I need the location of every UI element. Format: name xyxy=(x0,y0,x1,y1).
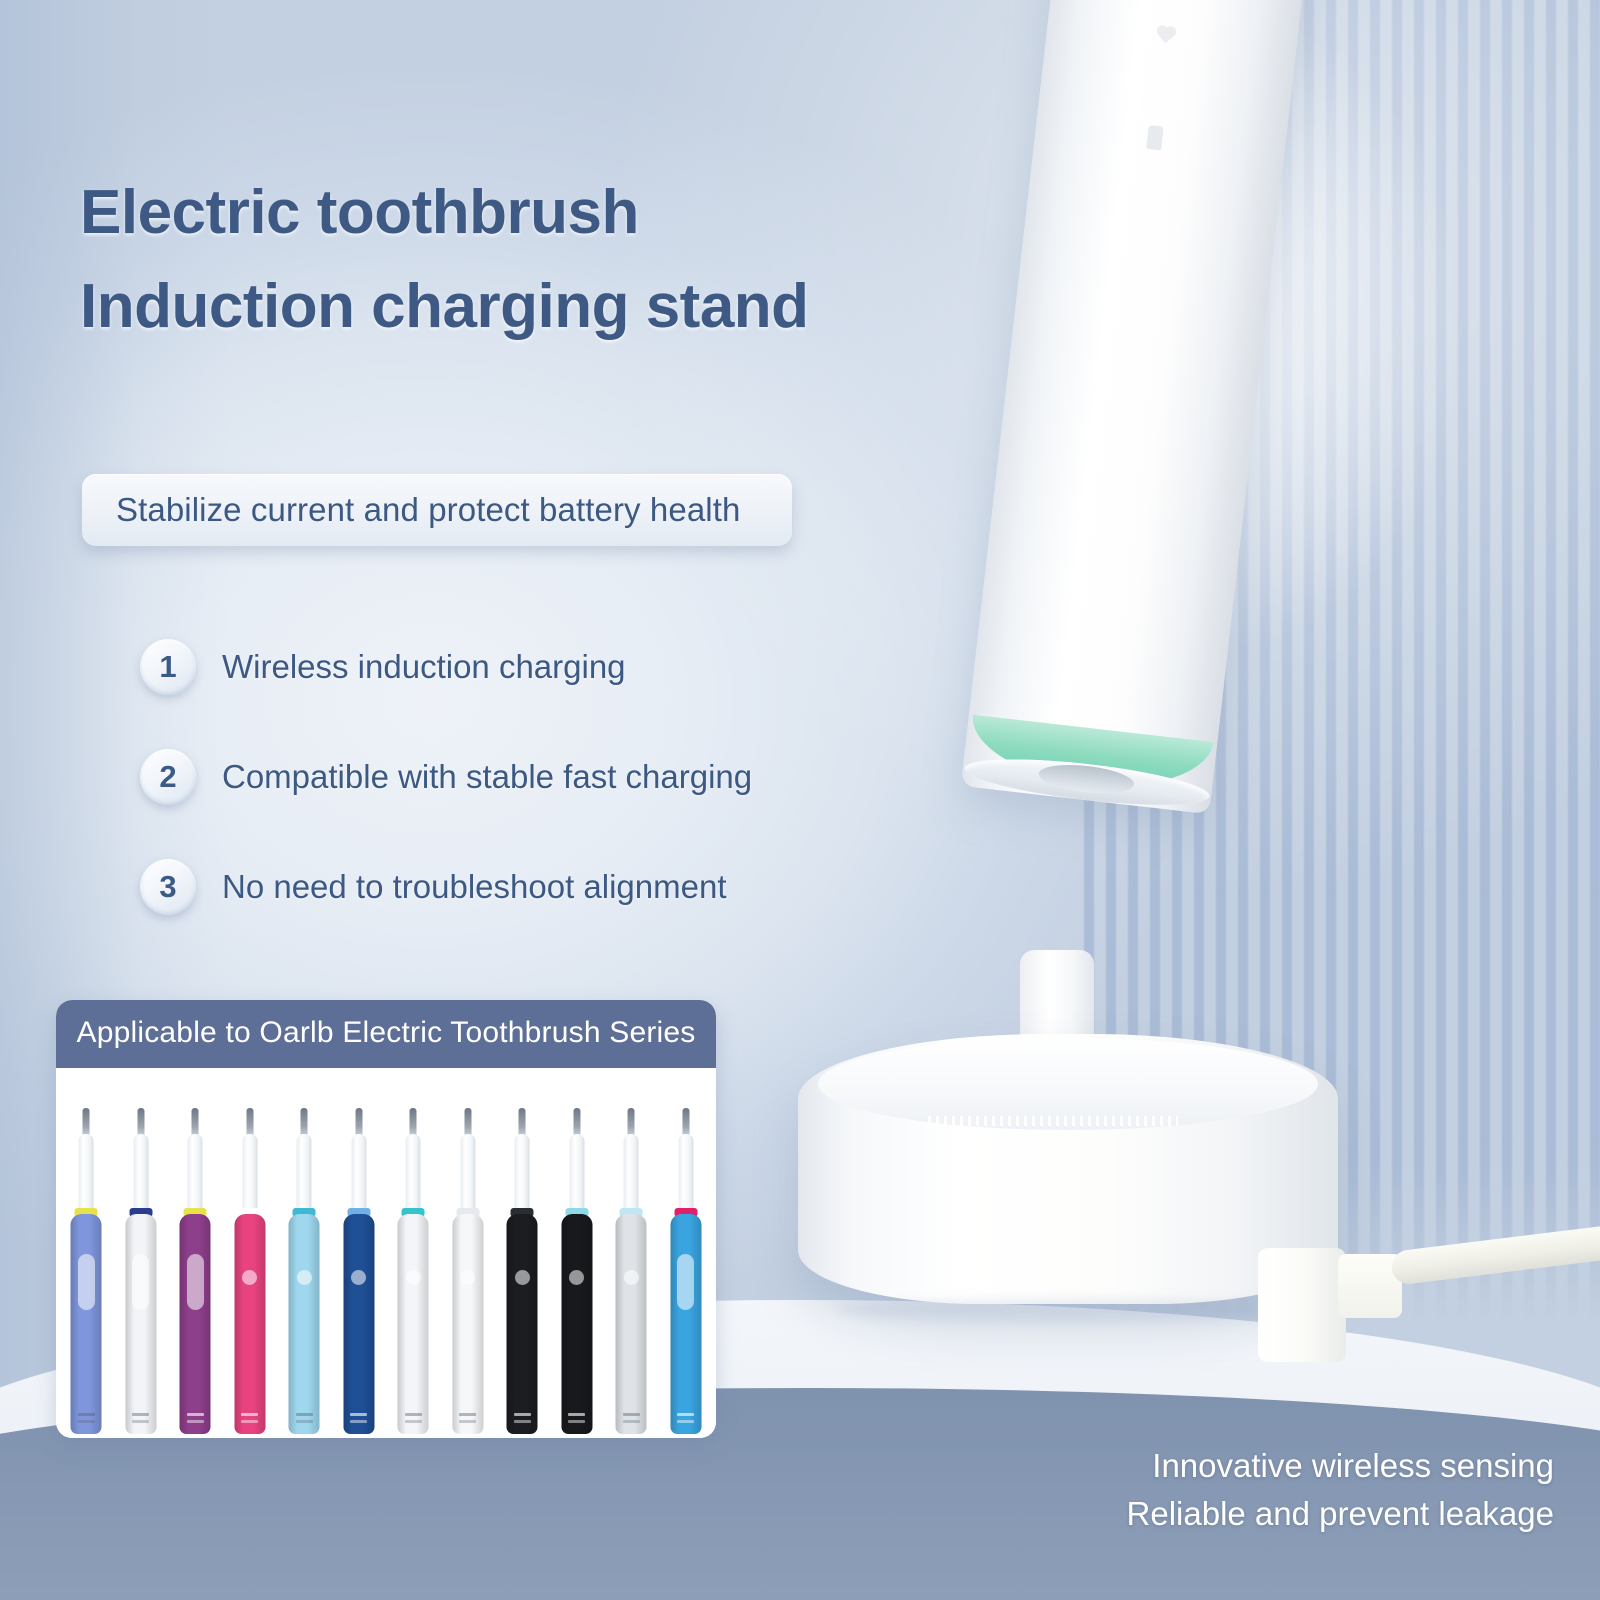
brush-power-button xyxy=(242,1270,257,1285)
brush-brand-logo xyxy=(78,1413,95,1416)
brush-body xyxy=(180,1214,211,1434)
subtitle-pill: Stabilize current and protect battery he… xyxy=(82,474,792,546)
brush-neck xyxy=(406,1134,421,1212)
brush-power-button xyxy=(297,1270,312,1285)
brush-power-button xyxy=(351,1270,366,1285)
brush-brand-logo xyxy=(187,1413,204,1416)
brush-neck xyxy=(515,1134,530,1212)
brush-power-button xyxy=(515,1270,530,1285)
kids-pink-blue-brush xyxy=(666,1108,706,1434)
brush-brand-logo xyxy=(350,1413,367,1416)
brush-neck xyxy=(678,1134,693,1212)
feature-item: 3 No need to troubleshoot alignment xyxy=(140,832,960,942)
brush-body xyxy=(616,1214,647,1434)
brush-body xyxy=(125,1214,156,1434)
page-title: Electric toothbrush Induction charging s… xyxy=(80,166,1040,354)
brush-power-button xyxy=(187,1254,204,1310)
brush-power-button xyxy=(460,1270,475,1285)
brush-power-button xyxy=(406,1270,421,1285)
brush-neck xyxy=(624,1134,639,1212)
compatibility-banner: Applicable to Oarlb Electric Toothbrush … xyxy=(56,1000,716,1068)
feature-label: Wireless induction charging xyxy=(222,648,626,686)
brush-brand-logo xyxy=(568,1413,585,1416)
brush-neck xyxy=(188,1134,203,1212)
brush-brand-logo xyxy=(132,1413,149,1416)
brush-power-button xyxy=(132,1254,149,1310)
feature-number-badge: 2 xyxy=(140,749,196,805)
compatibility-card: Applicable to Oarlb Electric Toothbrush … xyxy=(56,1000,716,1438)
bottom-tagline-line-1: Innovative wireless sensing xyxy=(1127,1442,1554,1490)
subtitle-pill-text: Stabilize current and protect battery he… xyxy=(82,491,740,529)
brush-neck xyxy=(297,1134,312,1212)
brush-body xyxy=(289,1214,320,1434)
brush-power-button xyxy=(569,1270,584,1285)
white-navy-brush xyxy=(121,1108,161,1434)
brush-brand-logo xyxy=(677,1413,694,1416)
page-title-line-2: Induction charging stand xyxy=(80,260,1040,354)
brush-neck xyxy=(242,1134,257,1212)
bottom-tagline-line-2: Reliable and prevent leakage xyxy=(1127,1490,1554,1538)
page-title-line-1: Electric toothbrush xyxy=(80,178,639,247)
blue-vitality-brush xyxy=(66,1108,106,1434)
purple-brush xyxy=(175,1108,215,1434)
brush-power-button xyxy=(78,1254,95,1310)
brush-neck xyxy=(133,1134,148,1212)
brush-brand-logo xyxy=(296,1413,313,1416)
brush-brand-logo xyxy=(623,1413,640,1416)
brush-body xyxy=(561,1214,592,1434)
feature-list: 1 Wireless induction charging 2 Compatib… xyxy=(140,612,960,942)
bottom-tagline: Innovative wireless sensing Reliable and… xyxy=(1127,1442,1554,1538)
brush-neck xyxy=(351,1134,366,1212)
brush-neck xyxy=(569,1134,584,1212)
brush-brand-logo xyxy=(405,1413,422,1416)
pink-brush xyxy=(230,1108,270,1434)
brush-power-button xyxy=(624,1270,639,1285)
brush-body xyxy=(398,1214,429,1434)
navy-blue-brush xyxy=(339,1108,379,1434)
product-poster: Electric toothbrush Induction charging s… xyxy=(0,0,1600,1600)
brush-brand-logo xyxy=(514,1413,531,1416)
feature-label: Compatible with stable fast charging xyxy=(222,758,752,796)
white-teal-brush xyxy=(393,1108,433,1434)
brush-neck xyxy=(460,1134,475,1212)
black-brush xyxy=(502,1108,542,1434)
white-smart-brush xyxy=(448,1108,488,1434)
feature-item: 2 Compatible with stable fast charging xyxy=(140,722,960,832)
compatibility-banner-line-1: Applicable to Oarlb Electric Toothbrush xyxy=(77,1016,601,1049)
compatibility-banner-line-2: Series xyxy=(609,1016,695,1049)
brush-power-button xyxy=(677,1254,694,1310)
brush-neck xyxy=(79,1134,94,1212)
silver-white-brush xyxy=(611,1108,651,1434)
brush-body xyxy=(670,1214,701,1434)
light-blue-brush xyxy=(284,1108,324,1434)
brush-body xyxy=(234,1214,265,1434)
brush-body xyxy=(343,1214,374,1434)
feature-number-badge: 3 xyxy=(140,859,196,915)
feature-item: 1 Wireless induction charging xyxy=(140,612,960,722)
brush-body xyxy=(452,1214,483,1434)
brush-brand-logo xyxy=(459,1413,476,1416)
brush-body xyxy=(71,1214,102,1434)
brush-brand-logo xyxy=(241,1413,258,1416)
black-io-brush xyxy=(557,1108,597,1434)
feature-number-badge: 1 xyxy=(140,639,196,695)
brush-body xyxy=(507,1214,538,1434)
compatible-brush-gallery xyxy=(56,1108,716,1438)
feature-label: No need to troubleshoot alignment xyxy=(222,868,727,906)
